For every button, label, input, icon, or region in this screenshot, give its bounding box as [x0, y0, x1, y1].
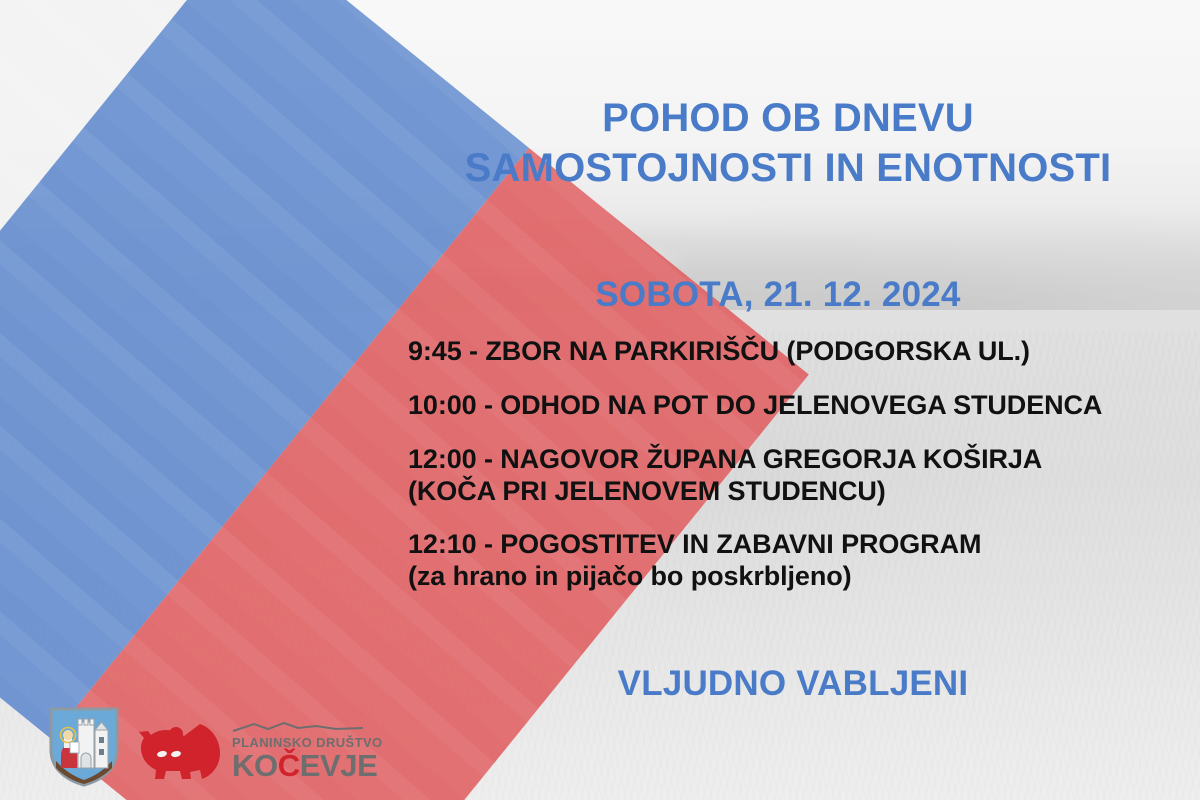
title-line-2: SAMOSTOJNOSTI IN ENOTNOSTI — [408, 143, 1168, 193]
schedule-item: 9:45 - ZBOR NA PARKIRIŠČU (PODGORSKA UL.… — [408, 336, 1200, 368]
pd-wordmark: PLANINSKO DRUŠTVO KOČEVJE — [232, 721, 383, 783]
bear-icon — [138, 716, 226, 788]
poster-canvas: POHOD OB DNEVU SAMOSTOJNOSTI IN ENOTNOST… — [0, 0, 1200, 800]
planinsko-drustvo-kocevje-logo: PLANINSKO DRUŠTVO KOČEVJE — [138, 716, 383, 788]
schedule-item-sub: (KOČA PRI JELENOVEM STUDENCU) — [408, 476, 1200, 508]
schedule-item-main: 9:45 - ZBOR NA PARKIRIŠČU (PODGORSKA UL.… — [408, 336, 1200, 368]
event-date: SOBOTA, 21. 12. 2024 — [408, 275, 1148, 315]
mountain-ridge-icon — [232, 721, 364, 734]
schedule-item: 12:10 - POGOSTITEV IN ZABAVNI PROGRAM (z… — [408, 529, 1200, 593]
schedule-item-main: 12:10 - POGOSTITEV IN ZABAVNI PROGRAM — [408, 529, 1200, 561]
schedule-list: 9:45 - ZBOR NA PARKIRIŠČU (PODGORSKA UL.… — [408, 336, 1200, 615]
kocevje-coat-of-arms-icon — [48, 706, 120, 788]
logo-row: PLANINSKO DRUŠTVO KOČEVJE — [48, 706, 383, 788]
title-line-1: POHOD OB DNEVU — [602, 96, 974, 140]
schedule-item-main: 12:00 - NAGOVOR ŽUPANA GREGORJA KOŠIRJA — [408, 444, 1200, 476]
schedule-item-main: 10:00 - ODHOD NA POT DO JELENOVEGA STUDE… — [408, 390, 1200, 422]
pd-evje: EVJE — [300, 748, 378, 783]
pd-line-2: KOČEVJE — [232, 750, 383, 781]
content-column: POHOD OB DNEVU SAMOSTOJNOSTI IN ENOTNOST… — [408, 0, 1200, 800]
schedule-item-sub: (za hrano in pijačo bo poskrbljeno) — [408, 561, 1200, 593]
schedule-item: 12:00 - NAGOVOR ŽUPANA GREGORJA KOŠIRJA … — [408, 444, 1200, 508]
closing-invitation: VLJUDNO VABLJENI — [408, 664, 1178, 704]
schedule-item: 10:00 - ODHOD NA POT DO JELENOVEGA STUDE… — [408, 390, 1200, 422]
pd-ko: KO — [232, 748, 278, 783]
poster-title: POHOD OB DNEVU SAMOSTOJNOSTI IN ENOTNOST… — [408, 93, 1168, 193]
pd-c-caron: Č — [278, 748, 300, 783]
